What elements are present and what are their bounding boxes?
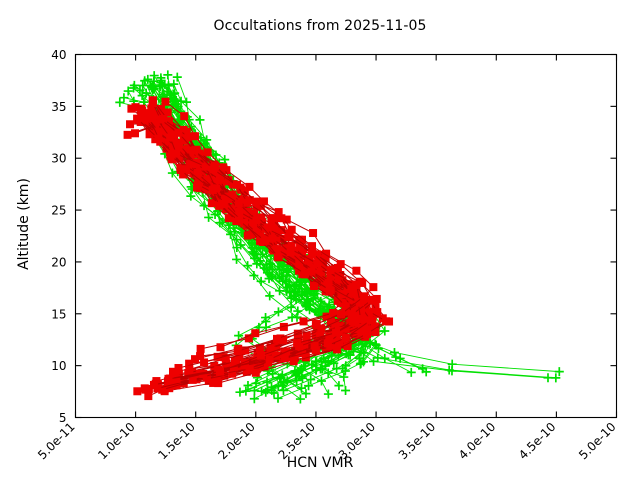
y-tick-label: 20 [51, 255, 66, 269]
y-tick-label: 25 [51, 204, 66, 218]
data-layer [115, 70, 564, 403]
y-tick-label: 35 [51, 100, 66, 114]
x-axis-label: HCN VMR [0, 455, 640, 471]
y-axis-label: Altitude (km) [16, 154, 32, 294]
y-tick-label: 40 [51, 48, 66, 62]
y-tick-label: 10 [51, 359, 66, 373]
figure-canvas: Occultations from 2025-11-05 51015202530… [0, 0, 640, 480]
plot-area: 5101520253035405.0e-111.0e-101.5e-102.0e… [0, 0, 640, 480]
y-tick-label: 30 [51, 152, 66, 166]
y-tick-label: 15 [51, 307, 66, 321]
